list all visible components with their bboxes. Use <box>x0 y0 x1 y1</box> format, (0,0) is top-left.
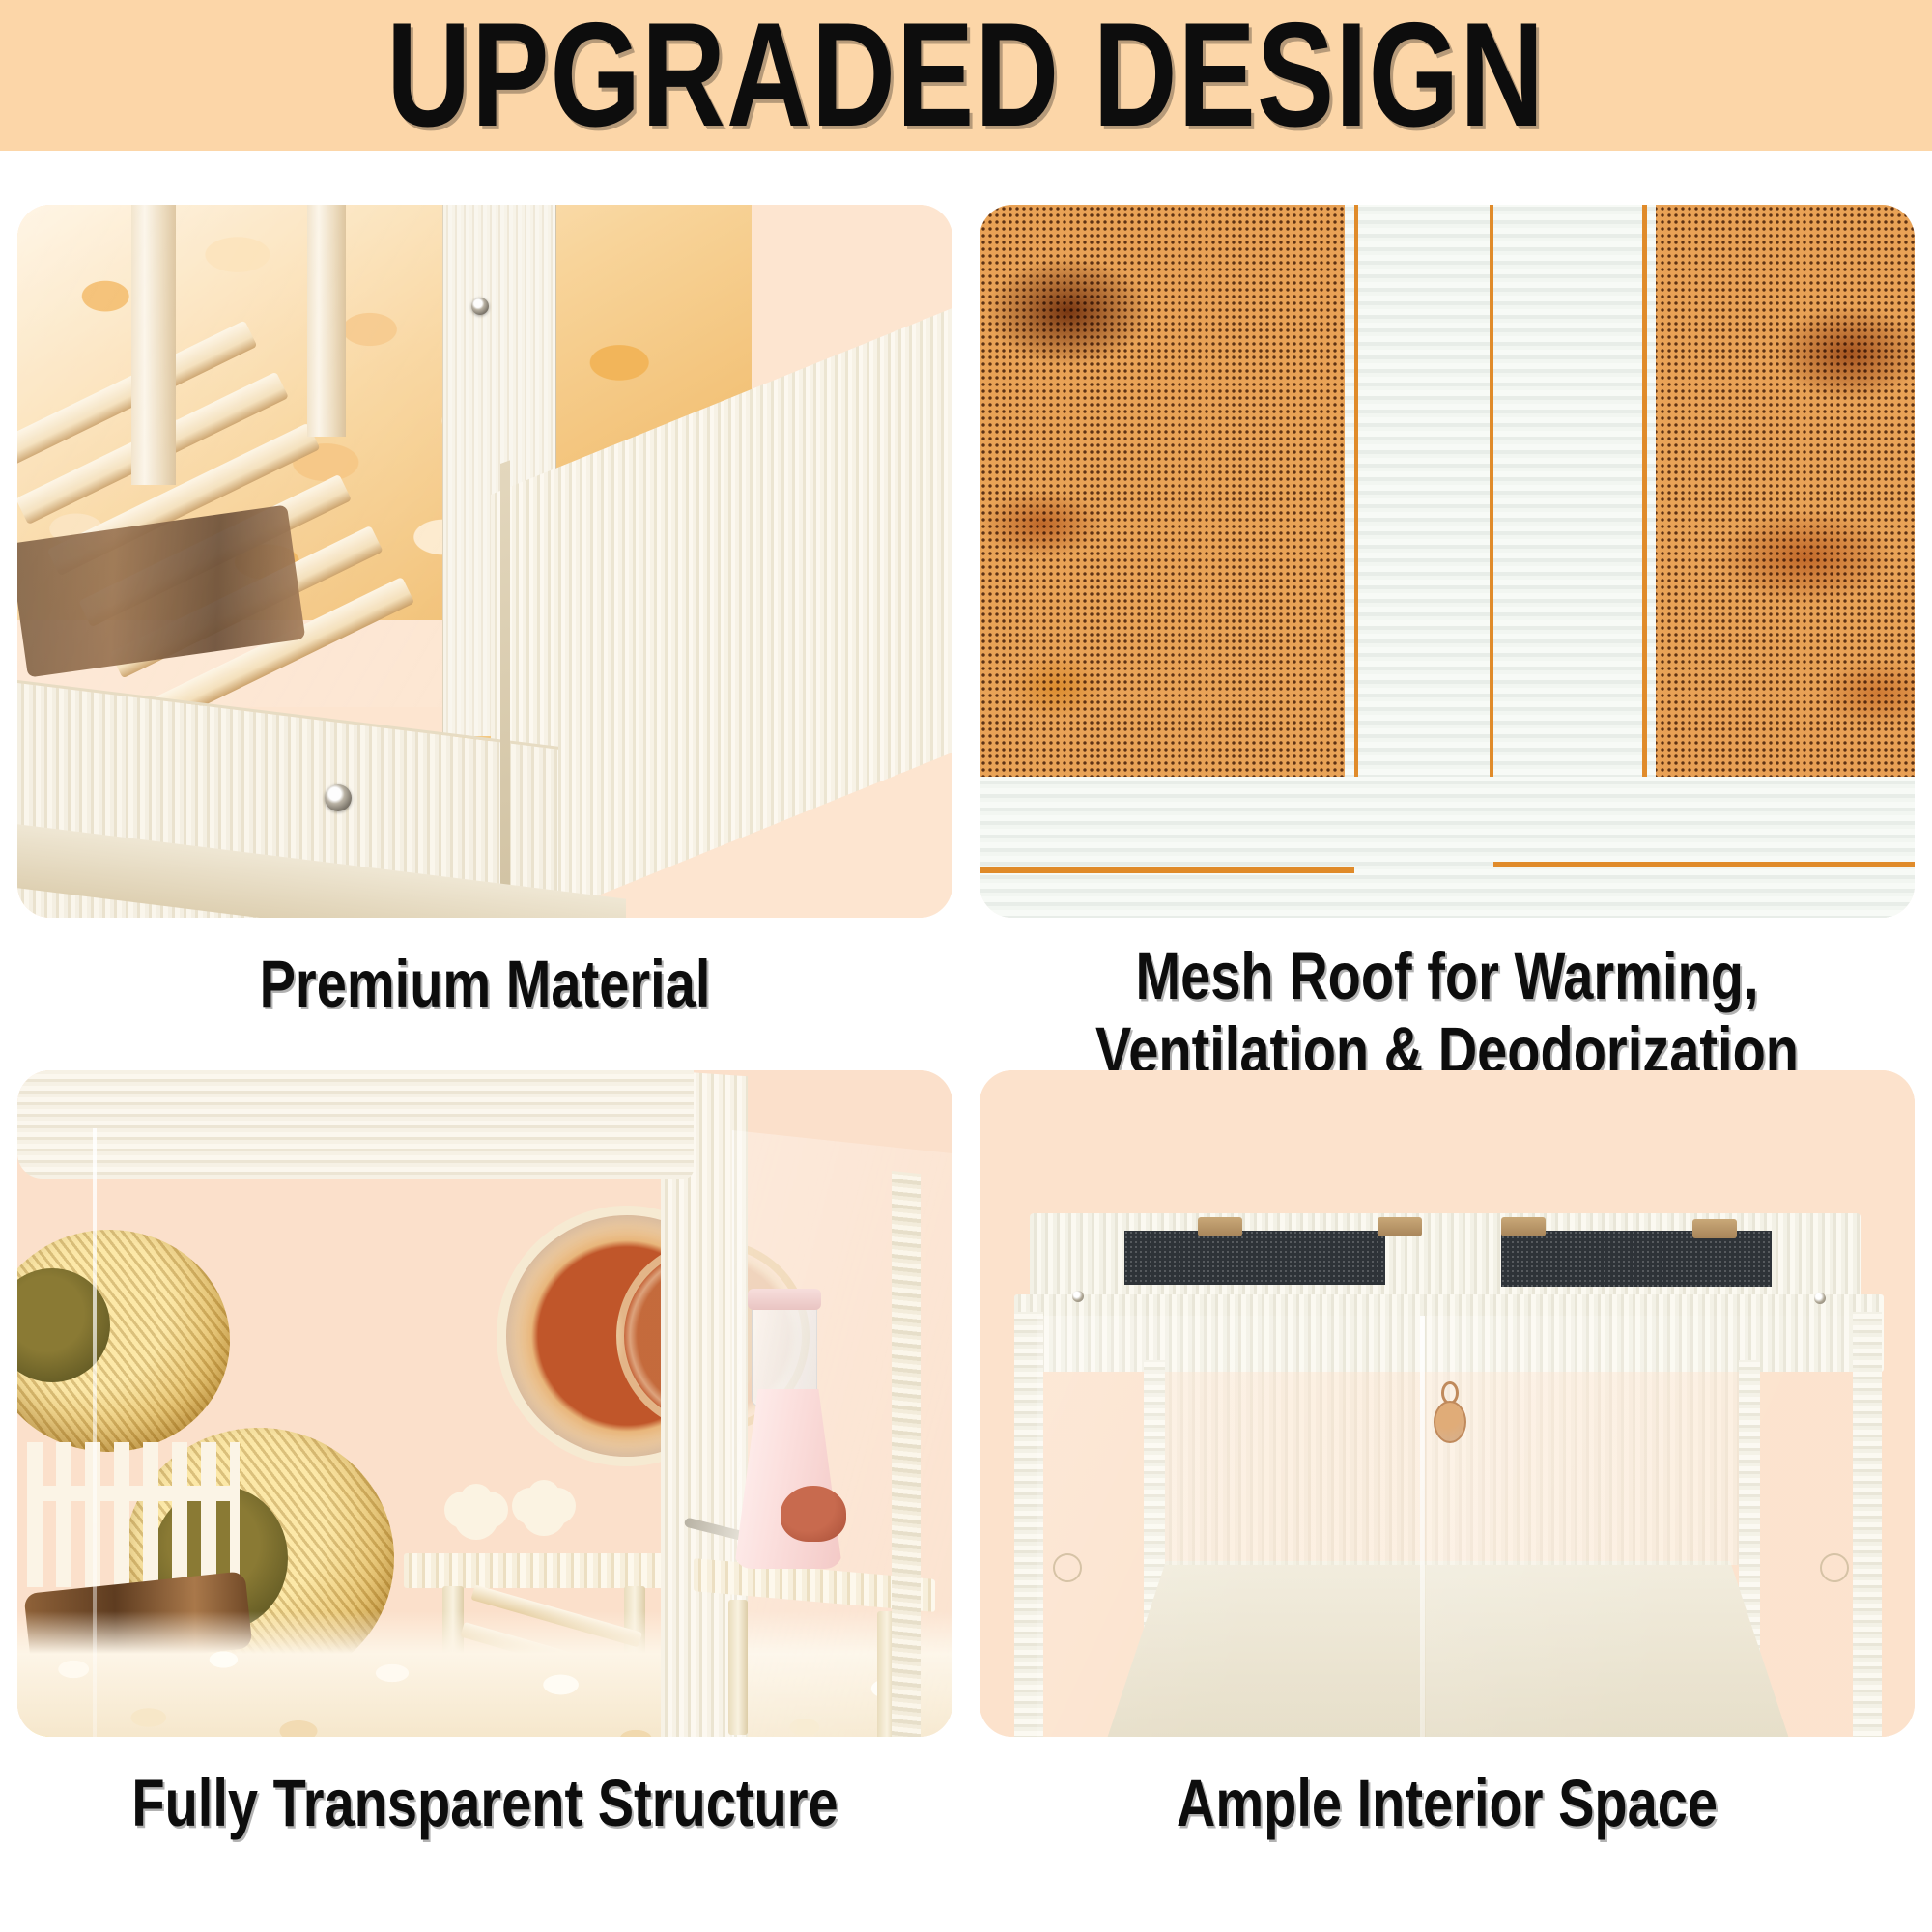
round-latch[interactable] <box>1434 1401 1466 1443</box>
water-bottle-accent <box>781 1486 846 1542</box>
top-rail-screw-right <box>1814 1293 1826 1304</box>
wooden-platform <box>404 1553 665 1588</box>
metal-screw-icon <box>325 784 352 811</box>
roof-center-divider <box>1412 1217 1499 1306</box>
acrylic-door-right <box>1426 1316 1859 1737</box>
acrylic-door-seam <box>1420 1316 1425 1737</box>
vent-hole-left-icon <box>1053 1553 1082 1582</box>
photo-ample-interior <box>980 1070 1915 1737</box>
feature-cell-premium-material: Premium Material <box>17 205 952 1055</box>
photo-mesh-roof <box>980 205 1915 918</box>
flower-decor-left <box>454 1495 498 1540</box>
frame-bottom-seam-right <box>1493 862 1915 867</box>
acrylic-door-left <box>1037 1316 1422 1737</box>
mesh-roof-hatch-left <box>1124 1231 1385 1285</box>
mesh-roof-right <box>1646 205 1915 817</box>
roof-hinge-1 <box>1198 1217 1242 1236</box>
photo-premium-material <box>17 205 952 918</box>
feature-cell-ample-interior: Ample Interior Space <box>980 1070 1915 1920</box>
feature-caption: Fully Transparent Structure <box>17 1766 952 1840</box>
page-title: UPGRADED DESIGN <box>387 0 1546 160</box>
feature-caption: Ample Interior Space <box>980 1766 1915 1840</box>
mesh-roof-right-contents <box>1646 205 1915 817</box>
water-bottle-cap <box>748 1289 821 1310</box>
header-band: UPGRADED DESIGN <box>0 0 1932 151</box>
roof-hinge-3 <box>1501 1217 1546 1236</box>
frame-bottom-apron <box>980 873 1915 918</box>
roof-hinge-4 <box>1692 1219 1737 1238</box>
right-frame-rail <box>892 1171 921 1737</box>
top-rail-screw-left <box>1072 1291 1084 1302</box>
bottle-shelf-leg-left <box>728 1600 748 1735</box>
mesh-roof-left <box>980 205 1350 825</box>
picket-fence <box>27 1442 240 1587</box>
mesh-roof-hatch-right <box>1501 1231 1772 1287</box>
acrylic-panel <box>17 205 500 707</box>
photo-transparent-structure <box>17 1070 952 1737</box>
flower-decor-right <box>522 1492 566 1536</box>
acrylic-seam <box>93 1128 97 1737</box>
metal-screw-upper-icon <box>471 298 489 315</box>
vent-hole-right-icon <box>1820 1553 1849 1582</box>
mesh-roof-left-contents <box>980 205 1350 825</box>
roof-hinge-2 <box>1378 1217 1422 1236</box>
feature-cell-transparent-structure: Fully Transparent Structure <box>17 1070 952 1920</box>
top-rail <box>17 1070 694 1179</box>
feature-cell-mesh-roof: Mesh Roof for Warming, Ventilation & Deo… <box>980 205 1915 1055</box>
feature-caption: Premium Material <box>17 947 952 1021</box>
feature-grid: Premium Material Mesh Roof for Warming, … <box>0 151 1932 1932</box>
picket-fence-rail <box>27 1486 240 1501</box>
frame-corner-edge <box>500 460 510 918</box>
feature-caption: Mesh Roof for Warming, Ventilation & Deo… <box>980 939 1915 1088</box>
